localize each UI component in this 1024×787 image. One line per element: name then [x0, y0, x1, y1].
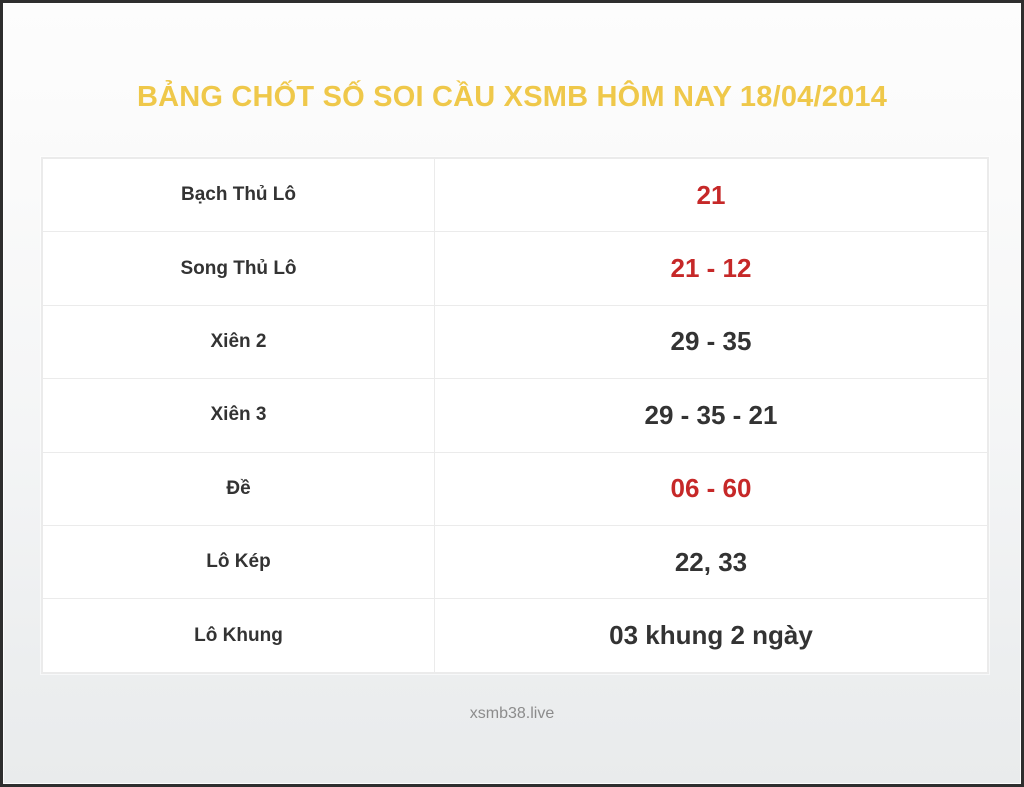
- row-value: 29 - 35 - 21: [435, 379, 988, 452]
- table-row: Lô Kép22, 33: [43, 525, 988, 598]
- row-value: 03 khung 2 ngày: [435, 599, 988, 672]
- table-row: Đề06 - 60: [43, 452, 988, 525]
- table-row: Bạch Thủ Lô21: [43, 159, 988, 232]
- page-frame: BẢNG CHỐT SỐ SOI CẦU XSMB HÔM NAY 18/04/…: [0, 0, 1024, 787]
- table-row: Song Thủ Lô21 - 12: [43, 232, 988, 305]
- prediction-table-body: Bạch Thủ Lô21Song Thủ Lô21 - 12Xiên 229 …: [43, 159, 988, 673]
- row-label: Xiên 2: [43, 305, 435, 378]
- table-row: Lô Khung03 khung 2 ngày: [43, 599, 988, 672]
- row-value: 29 - 35: [435, 305, 988, 378]
- row-label: Bạch Thủ Lô: [43, 159, 435, 232]
- table-row: Xiên 229 - 35: [43, 305, 988, 378]
- row-label: Đề: [43, 452, 435, 525]
- row-label: Lô Khung: [43, 599, 435, 672]
- prediction-table-container: Bạch Thủ Lô21Song Thủ Lô21 - 12Xiên 229 …: [41, 157, 989, 674]
- table-row: Xiên 329 - 35 - 21: [43, 379, 988, 452]
- site-watermark: xsmb38.live: [3, 705, 1021, 723]
- row-label: Xiên 3: [43, 379, 435, 452]
- row-value: 21 - 12: [435, 232, 988, 305]
- page-title: BẢNG CHỐT SỐ SOI CẦU XSMB HÔM NAY 18/04/…: [3, 81, 1021, 114]
- row-label: Song Thủ Lô: [43, 232, 435, 305]
- prediction-table: Bạch Thủ Lô21Song Thủ Lô21 - 12Xiên 229 …: [42, 158, 988, 673]
- row-value: 22, 33: [435, 525, 988, 598]
- row-value: 21: [435, 159, 988, 232]
- row-label: Lô Kép: [43, 525, 435, 598]
- row-value: 06 - 60: [435, 452, 988, 525]
